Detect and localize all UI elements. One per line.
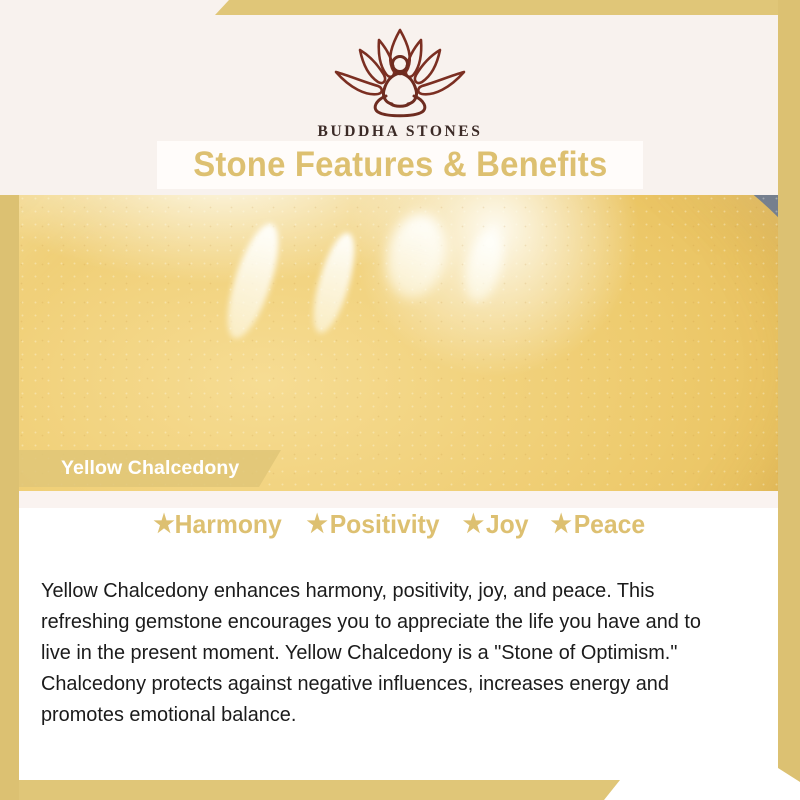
- lotus-meditation-figure-icon: [320, 24, 480, 122]
- content-section: ★ Harmony ★ Positivity ★ Joy ★ Peace Yel…: [19, 491, 778, 780]
- stone-name-label: Yellow Chalcedony: [61, 457, 239, 480]
- benefit-label: Peace: [574, 509, 645, 540]
- benefit-label: Harmony: [174, 509, 281, 540]
- stone-name-badge: Yellow Chalcedony: [19, 450, 281, 487]
- page-title: Stone Features & Benefits: [193, 145, 607, 185]
- frame-accent-bottom: [0, 780, 620, 800]
- star-icon: ★: [462, 512, 483, 537]
- title-banner: Stone Features & Benefits: [157, 141, 643, 189]
- star-icon: ★: [153, 512, 174, 537]
- benefit-label: Joy: [486, 509, 529, 540]
- benefit-item: ★ Harmony: [153, 509, 281, 540]
- benefit-label: Positivity: [329, 509, 439, 540]
- benefit-item: ★ Joy: [462, 509, 528, 540]
- benefits-row: ★ Harmony ★ Positivity ★ Joy ★ Peace: [19, 509, 778, 540]
- content-top-wash: [19, 491, 778, 508]
- frame-accent-top: [215, 0, 800, 15]
- benefit-item: ★ Positivity: [306, 509, 439, 540]
- frame-accent-right: [778, 0, 800, 782]
- header-section: BUDDHA STONES Stone Features & Benefits: [0, 0, 800, 196]
- star-icon: ★: [306, 512, 327, 537]
- frame-accent-left: [0, 195, 19, 800]
- stone-description: Yellow Chalcedony enhances harmony, posi…: [41, 575, 736, 730]
- brand-name: BUDDHA STONES: [0, 123, 800, 141]
- brand-logo-block: BUDDHA STONES: [0, 24, 800, 141]
- star-icon: ★: [550, 512, 571, 537]
- stone-photo: Yellow Chalcedony: [19, 195, 778, 491]
- benefit-item: ★ Peace: [550, 509, 645, 540]
- stone-features-card: BUDDHA STONES Stone Features & Benefits …: [0, 0, 800, 800]
